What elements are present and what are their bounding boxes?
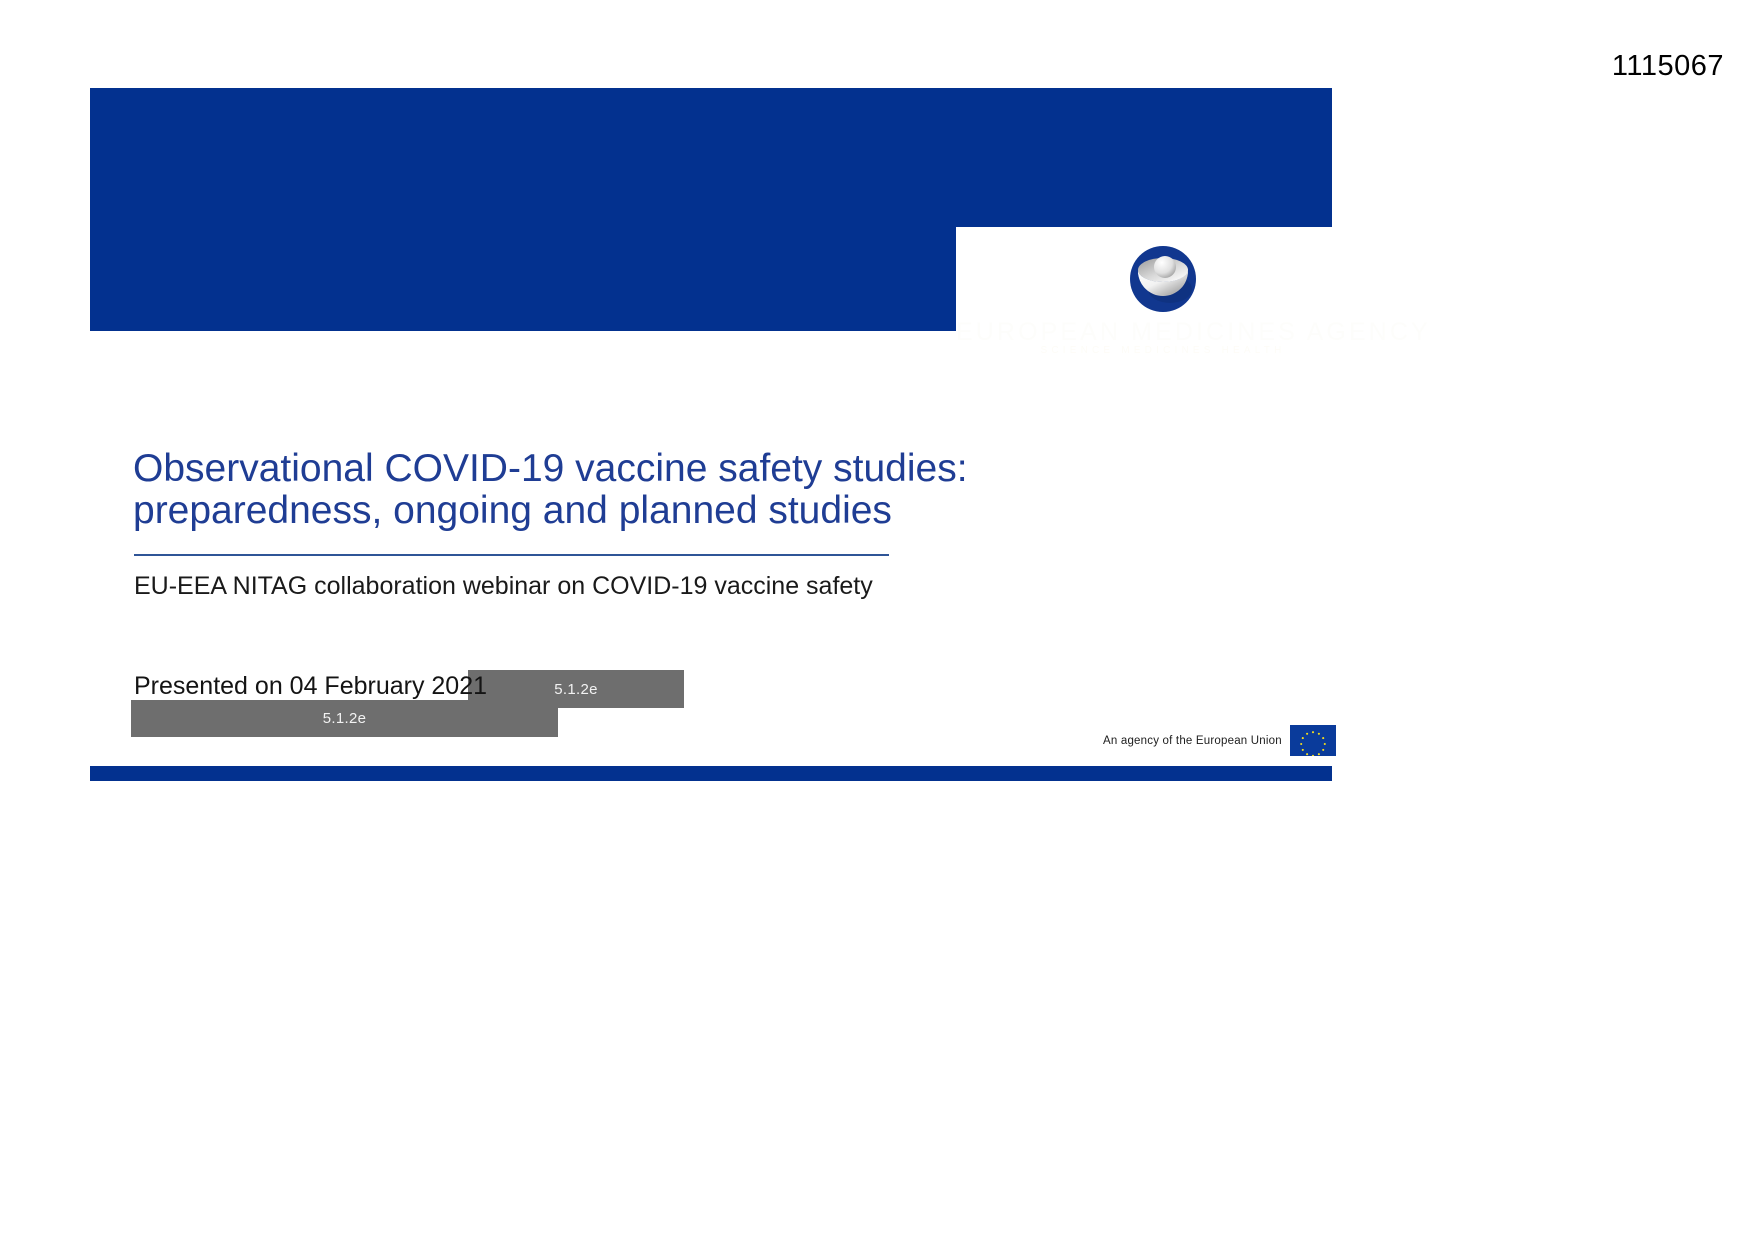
- title-divider-rule: [134, 554, 889, 556]
- ema-organisation-name: EUROPEAN MEDICINES AGENCY: [956, 318, 1431, 346]
- eu-agency-footer: An agency of the European Union: [1103, 725, 1336, 756]
- slide-subtitle: EU-EEA NITAG collaboration webinar on CO…: [134, 572, 873, 601]
- ema-logo-plate: EUROPEAN MEDICINES AGENCY SCIENCE MEDICI…: [956, 227, 1370, 366]
- header-blue-band: EUROPEAN MEDICINES AGENCY SCIENCE MEDICI…: [90, 88, 1332, 331]
- ema-bowl-logo-icon: [1121, 237, 1205, 321]
- slide-page: 1115067: [0, 0, 1754, 1241]
- ema-tagline: SCIENCE MEDICINES HEALTH: [956, 346, 1370, 357]
- european-union-flag-icon: [1290, 725, 1336, 756]
- title-block: Observational COVID-19 vaccine safety st…: [133, 448, 1133, 532]
- slide-title: Observational COVID-19 vaccine safety st…: [133, 448, 1133, 532]
- document-number: 1115067: [1612, 50, 1724, 83]
- presented-on-text: Presented on 04 February 2021: [134, 672, 487, 701]
- ema-wordmark: EUROPEAN MEDICINES AGENCY SCIENCE MEDICI…: [956, 319, 1370, 356]
- eu-agency-label: An agency of the European Union: [1103, 735, 1282, 747]
- footer-blue-bar: [90, 766, 1332, 781]
- redaction-box: 5.1.2e: [131, 700, 558, 737]
